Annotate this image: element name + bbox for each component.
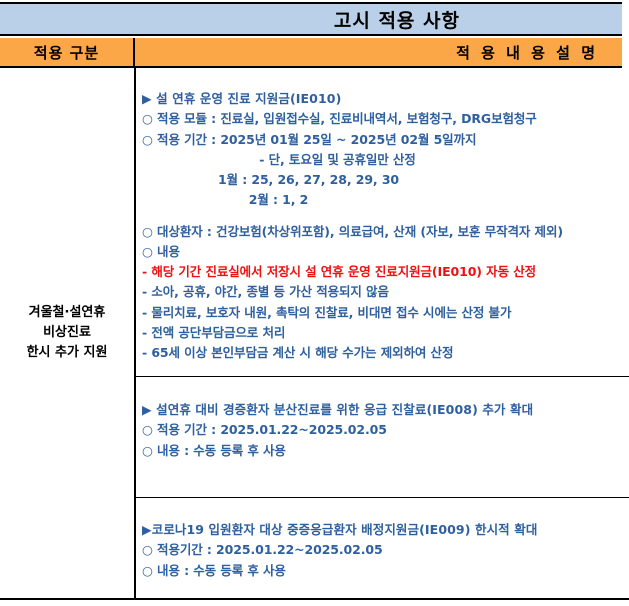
category-label: 겨울철·설연휴 비상진료 한시 추가 지원 <box>27 303 108 363</box>
page-title-bar: 고시 적용 사항 <box>0 2 622 36</box>
column-header-description-label: 적 용 내 용 설 명 <box>456 42 622 63</box>
section-ie009: ▶코로나19 입원환자 대상 중증응급환자 배정지원금(IE009) 한시적 확… <box>136 497 629 598</box>
section-heading: ▶코로나19 입원환자 대상 중증응급환자 배정지원금(IE009) 한시적 확… <box>142 520 625 540</box>
bullet-line: ○ 적용 기간 : 2025년 01월 25일 ~ 2025년 02월 5일까지 <box>142 130 625 150</box>
bullet-line: ○ 적용기간 : 2025.01.22~2025.02.05 <box>142 540 625 560</box>
bullet-line: ○ 적용 기간 : 2025.01.22~2025.02.05 <box>142 420 625 440</box>
table-row-category-cell: 겨울철·설연휴 비상진료 한시 추가 지원 <box>0 68 134 598</box>
bullet-line: ○ 내용 : 수동 등록 후 사용 <box>142 561 625 581</box>
spacer-line <box>142 211 625 222</box>
sub-line: 2월 : 1, 2 <box>142 190 625 210</box>
bullet-line: ○ 적용 모듈 : 진료실, 입원접수실, 진료비내역서, 보험청구, DRG보… <box>142 109 625 129</box>
table-row-description-cell: ▶ 설 연휴 운영 진료 지원금(IE010) ○ 적용 모듈 : 진료실, 입… <box>136 68 629 598</box>
highlight-line: - 해당 기간 진료실에서 저장시 설 연휴 운영 진료지원금(IE010) 자… <box>142 262 625 282</box>
detail-line: - 전액 공단부담금으로 처리 <box>142 323 625 343</box>
table-header-row: 적용 구분 적 용 내 용 설 명 <box>0 38 622 68</box>
sub-line: 1월 : 25, 26, 27, 28, 29, 30 <box>142 170 625 190</box>
page-title: 고시 적용 사항 <box>334 6 622 33</box>
section-ie010: ▶ 설 연휴 운영 진료 지원금(IE010) ○ 적용 모듈 : 진료실, 입… <box>136 68 629 376</box>
notice-table-page: 고시 적용 사항 적용 구분 적 용 내 용 설 명 겨울철·설연휴 비상진료 … <box>0 0 629 606</box>
section-heading: ▶ 설 연휴 운영 진료 지원금(IE010) <box>142 89 625 109</box>
bullet-line: ○ 내용 <box>142 242 625 262</box>
table-bottom-border <box>0 598 629 600</box>
section-heading: ▶ 설연휴 대비 경증환자 분산진료를 위한 응급 진찰료(IE008) 추가 … <box>142 400 625 420</box>
column-header-category-label: 적용 구분 <box>34 42 99 63</box>
column-header-description: 적 용 내 용 설 명 <box>135 38 622 68</box>
sub-line: - 단, 토요일 및 공휴일만 산정 <box>142 150 625 170</box>
bullet-line: ○ 대상환자 : 건강보험(차상위포함), 의료급여, 산재 (자보, 보훈 무… <box>142 222 625 242</box>
section-ie008: ▶ 설연휴 대비 경증환자 분산진료를 위한 응급 진찰료(IE008) 추가 … <box>136 376 629 497</box>
detail-line: - 소아, 공휴, 야간, 종별 등 가산 적용되지 않음 <box>142 282 625 302</box>
detail-line: - 65세 이상 본인부담금 계산 시 해당 수가는 제외하여 산정 <box>142 343 625 363</box>
detail-line: - 물리치료, 보호자 내원, 촉탁의 진찰료, 비대면 접수 시에는 산정 불… <box>142 303 625 323</box>
column-header-category: 적용 구분 <box>0 38 135 68</box>
bullet-line: ○ 내용 : 수동 등록 후 사용 <box>142 441 625 461</box>
